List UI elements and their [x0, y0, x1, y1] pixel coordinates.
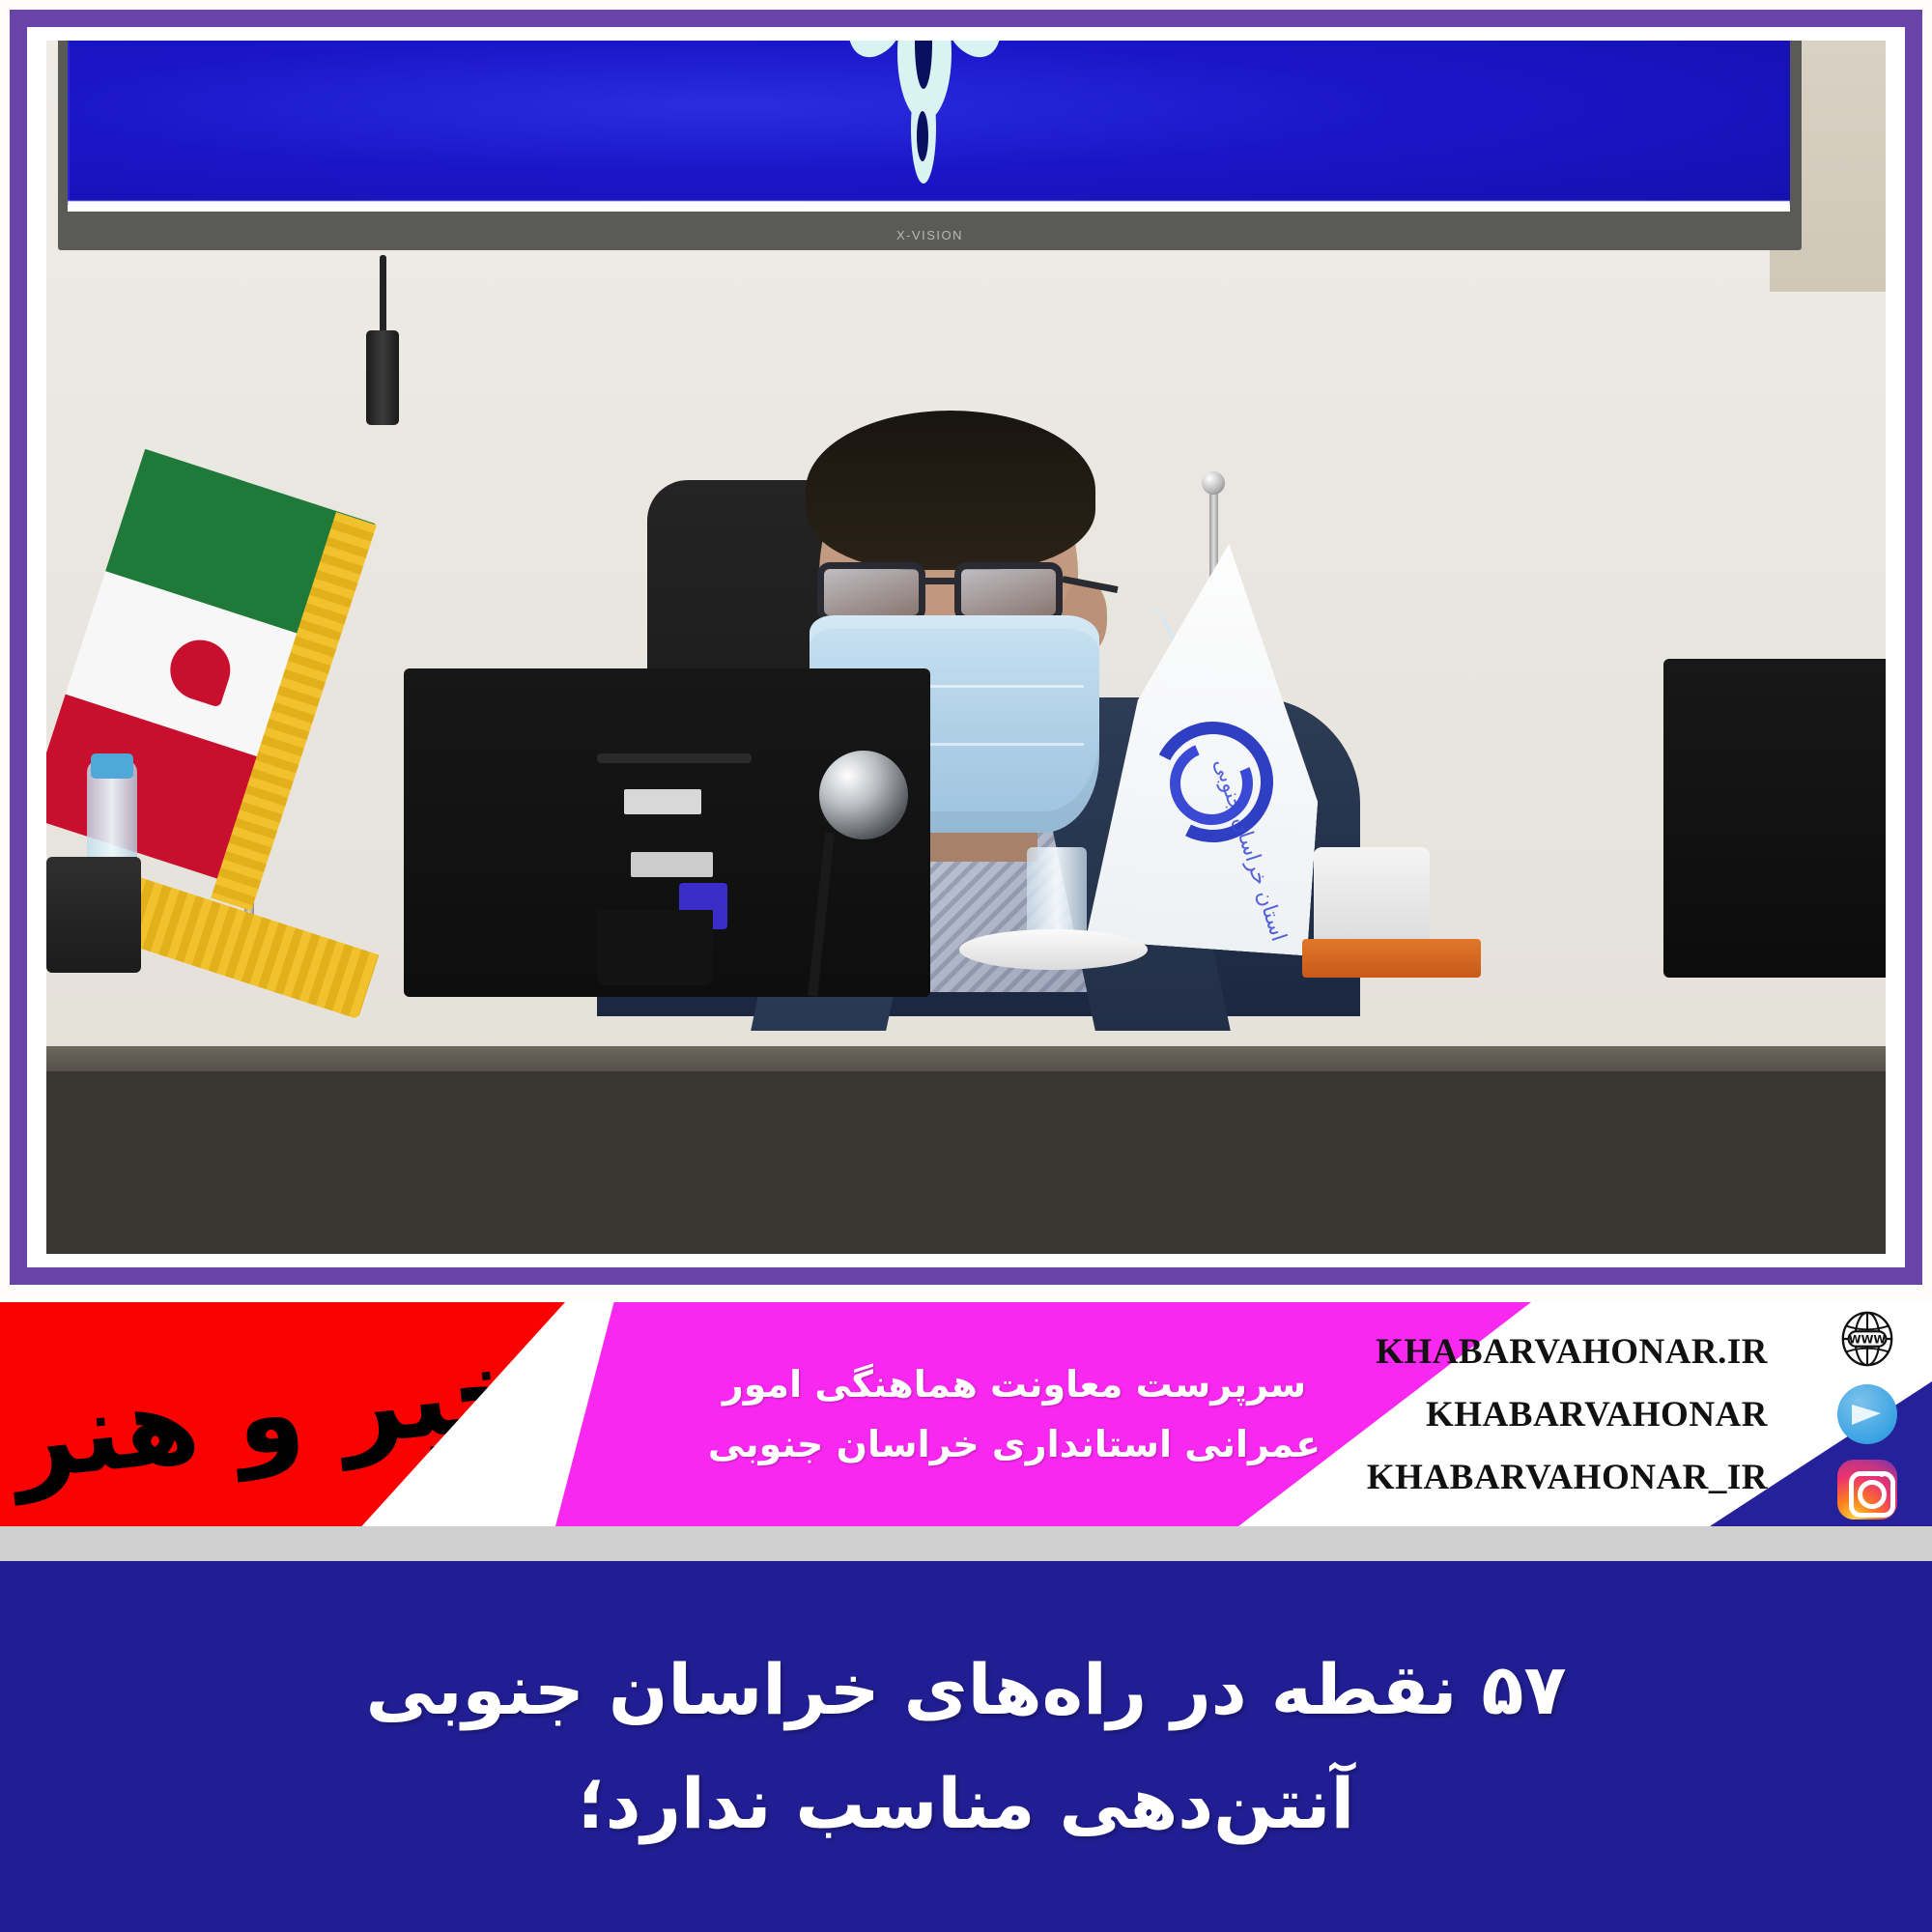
social-icons: WWW: [1837, 1302, 1897, 1526]
person-hair: [806, 411, 1095, 570]
telegram-icon[interactable]: [1837, 1384, 1897, 1444]
cable-plug-icon: [366, 330, 399, 425]
svg-text:WWW: WWW: [1849, 1332, 1887, 1346]
conference-desk: [46, 1046, 1886, 1254]
telegram-handle[interactable]: KHABARVAHONAR: [1426, 1394, 1768, 1435]
website-handle[interactable]: KHABARVAHONAR.IR: [1376, 1331, 1768, 1373]
gray-divider: [0, 1526, 1932, 1561]
photo-inner-border: X-VISION: [27, 27, 1905, 1267]
water-bottle-cap: [91, 753, 133, 779]
tv-brand-label: X-VISION: [896, 228, 963, 242]
org-flag-finial: [1202, 471, 1225, 495]
tv-ornament-icon: [818, 41, 1040, 179]
news-graphic-page: X-VISION: [0, 0, 1932, 1932]
headline-line-2: آنتن‌دهی مناسب ندارد؛: [578, 1763, 1354, 1844]
instagram-icon[interactable]: [1837, 1460, 1897, 1520]
tissue-box: [1314, 847, 1430, 953]
khabarvahonar-logo: خبر و هنر: [8, 1335, 535, 1496]
meeting-photo: X-VISION: [46, 41, 1886, 1254]
subtitle-line-2: عمرانی استانداری خراسان جنوبی: [708, 1423, 1378, 1465]
headline-line-1: ۵۷ نقطه در راه‌های خراسان جنوبی: [366, 1649, 1567, 1730]
instagram-handle[interactable]: KHABARVAHONAR_IR: [1367, 1457, 1768, 1498]
subtitle-line-1: سرپرست معاونت هماهنگی امور: [723, 1363, 1364, 1406]
brand-band: خبر و هنر سرپرست معاونت هماهنگی امور عمر…: [0, 1302, 1932, 1526]
microphone-head: [819, 751, 908, 839]
photo-frame: X-VISION: [10, 10, 1922, 1285]
monitor-secondary: [1663, 659, 1886, 978]
eyeglasses-icon: [810, 562, 1090, 622]
wall-tv: X-VISION: [58, 41, 1802, 250]
orange-folder: [1302, 939, 1481, 978]
tv-screen: [68, 41, 1790, 212]
logo-block[interactable]: خبر و هنر: [0, 1302, 565, 1526]
globe-www-icon[interactable]: WWW: [1837, 1309, 1897, 1369]
saucer-plate: [959, 929, 1148, 970]
social-handles: KHABARVAHONAR.IR KHABARVAHONAR KHABARVAH…: [1367, 1302, 1768, 1526]
headline-block: ۵۷ نقطه در راه‌های خراسان جنوبی آنتن‌دهی…: [0, 1561, 1932, 1932]
dark-equipment-box: [46, 857, 141, 973]
